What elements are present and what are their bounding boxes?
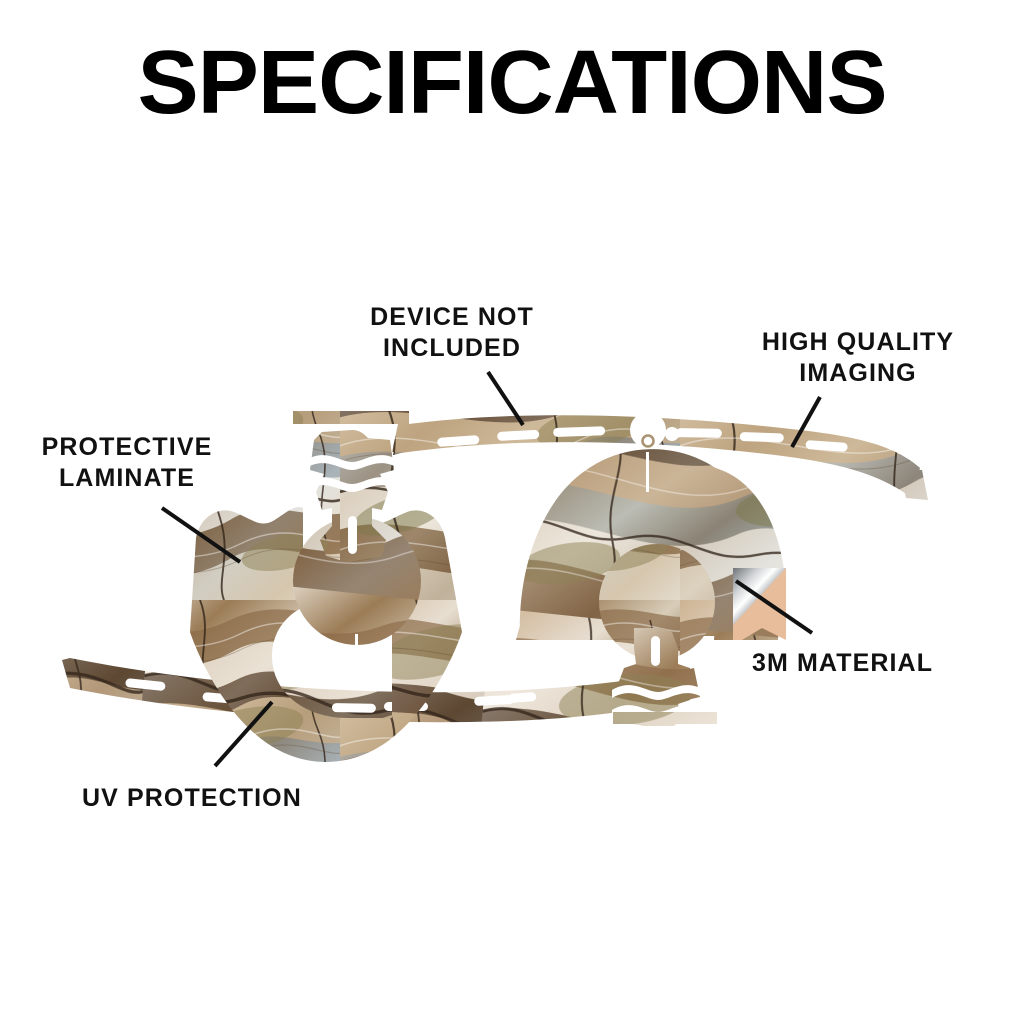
leader-high-quality-imaging: [792, 397, 820, 447]
leader-protective-laminate: [162, 508, 240, 562]
specifications-diagram: SPECIFICATIONS DEVICE NOT INCLUDED HIGH …: [0, 0, 1024, 1024]
callout-label-high-quality-imaging: HIGH QUALITY IMAGING: [740, 327, 976, 389]
callout-label-device-not-included: DEVICE NOT INCLUDED: [352, 302, 552, 364]
callout-label-3m-material: 3M MATERIAL: [752, 648, 992, 679]
leader-lines: [0, 0, 1024, 1024]
callout-label-protective-laminate: PROTECTIVE LAMINATE: [18, 432, 236, 494]
leader-3m-material: [736, 581, 812, 633]
leader-uv-protection: [215, 702, 272, 766]
leader-device-not-included: [488, 372, 523, 425]
callout-label-uv-protection: UV PROTECTION: [82, 783, 338, 814]
page-title: SPECIFICATIONS: [0, 38, 1024, 128]
